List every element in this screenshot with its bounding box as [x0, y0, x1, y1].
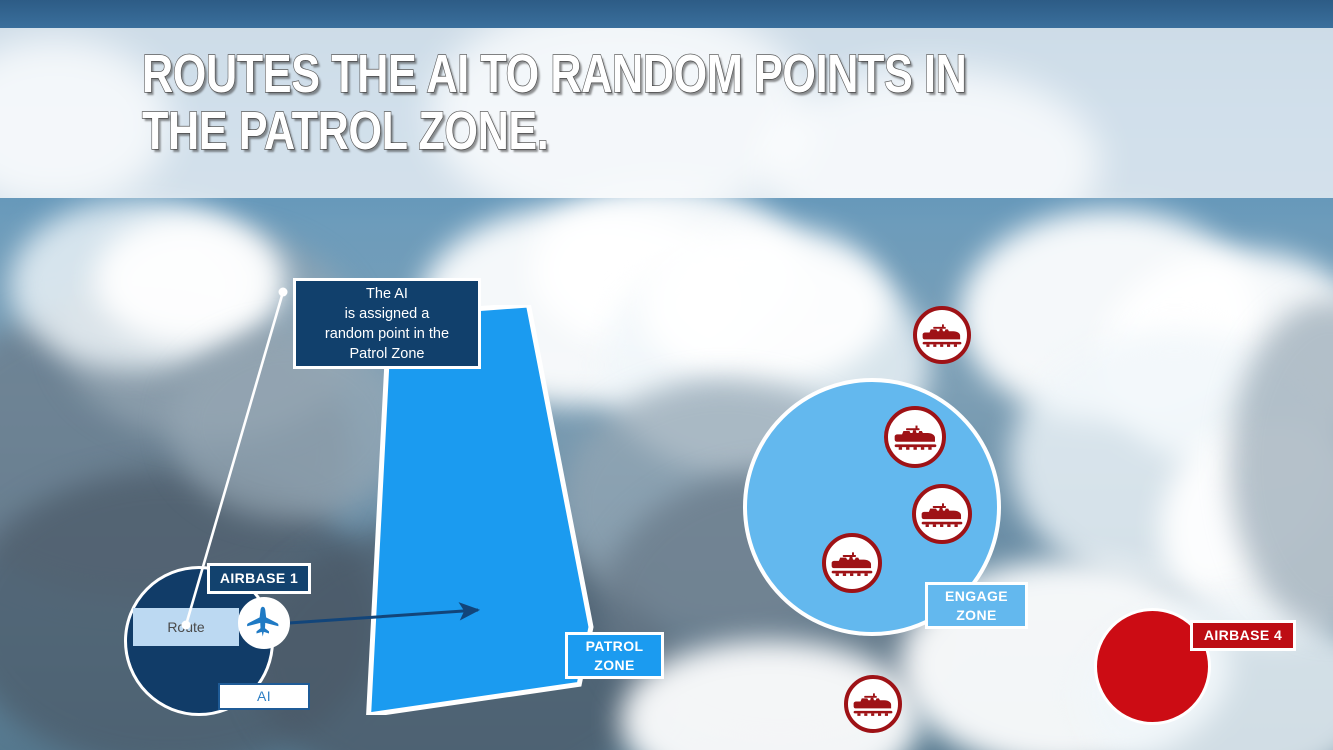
airbase1-label[interactable]: AIRBASE 1: [207, 563, 311, 594]
patrol-zone-label[interactable]: PATROL ZONE: [565, 632, 664, 679]
engage-zone-label[interactable]: ENGAGE ZONE: [925, 582, 1028, 629]
tank-marker-engage-right[interactable]: [912, 484, 972, 544]
top-sky-strip: [0, 0, 1333, 28]
tank-icon: [831, 550, 873, 577]
cloud-shape: [95, 215, 285, 345]
slide-canvas: ROUTES THE AI TO RANDOM POINTS IN THE PA…: [0, 0, 1333, 750]
route-waypoint[interactable]: Route: [133, 608, 239, 646]
airbase4-label[interactable]: AIRBASE 4: [1190, 620, 1296, 651]
tank-marker-south[interactable]: [844, 675, 902, 733]
tank-marker-engage-upper[interactable]: [884, 406, 946, 468]
page-title: ROUTES THE AI TO RANDOM POINTS IN THE PA…: [142, 46, 982, 160]
tank-icon: [894, 423, 937, 451]
route-label: Route: [167, 619, 204, 635]
tank-marker-engage-lower[interactable]: [822, 533, 882, 593]
tank-icon: [921, 501, 963, 528]
fighter-jet-icon: [244, 603, 284, 643]
callout-box: The AI is assigned a random point in the…: [293, 278, 481, 369]
tank-marker-north[interactable]: [913, 306, 971, 364]
tank-icon: [853, 691, 893, 717]
ai-label[interactable]: AI: [218, 683, 310, 710]
cloud-shape: [640, 225, 890, 385]
tank-icon: [922, 322, 962, 348]
ai-jet-marker[interactable]: [238, 597, 290, 649]
